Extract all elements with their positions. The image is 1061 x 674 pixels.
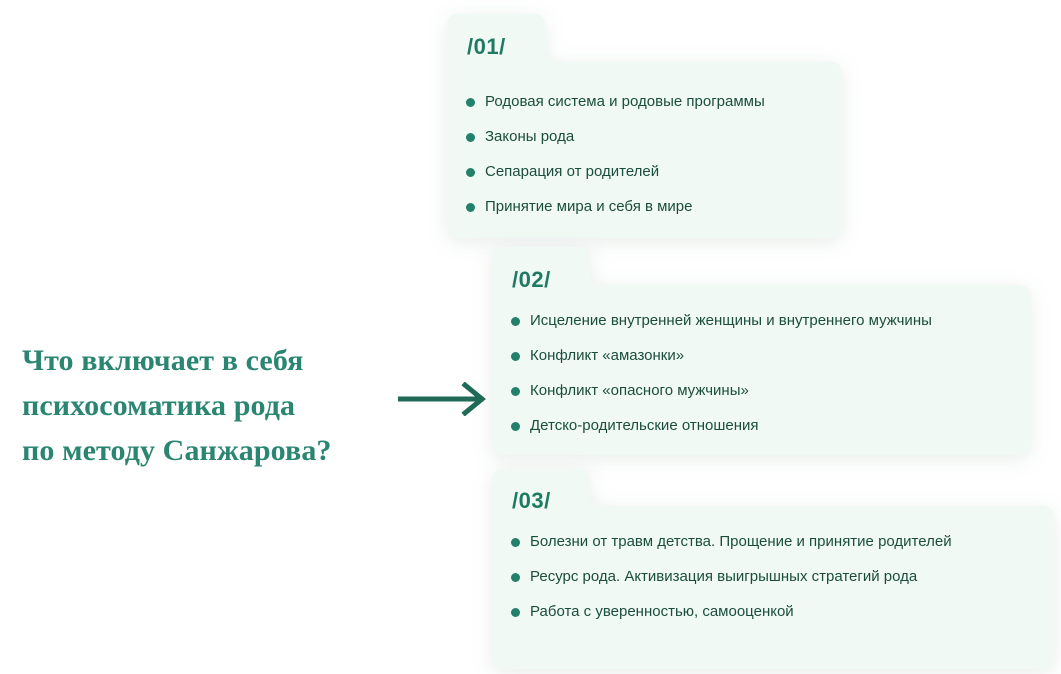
list-item: Законы рода — [466, 127, 765, 147]
info-card-01: /01/ Родовая система и родовые программы… — [447, 14, 842, 238]
card-item-list: Родовая система и родовые программы Зако… — [466, 92, 765, 217]
list-item-label: Принятие мира и себя в мире — [485, 198, 693, 215]
info-card-03: /03/ Болезни от травм детства. Прощение … — [492, 469, 1054, 669]
list-item: Детско-родительские отношения — [511, 416, 932, 436]
list-item: Исцеление внутренней женщины и внутренне… — [511, 311, 932, 331]
bullet-icon — [511, 317, 520, 326]
bullet-icon — [511, 608, 520, 617]
list-item-label: Конфликт «амазонки» — [530, 347, 684, 364]
list-item-label: Конфликт «опасного мужчины» — [530, 382, 749, 399]
card-number-label: /01/ — [467, 34, 506, 60]
list-item: Родовая система и родовые программы — [466, 92, 765, 112]
card-item-list: Исцеление внутренней женщины и внутренне… — [511, 311, 932, 436]
bullet-icon — [466, 203, 475, 212]
card-item-list: Болезни от травм детства. Прощение и при… — [511, 532, 952, 622]
bullet-icon — [511, 422, 520, 431]
arrow-right-icon — [398, 382, 490, 416]
list-item-label: Болезни от травм детства. Прощение и при… — [530, 533, 952, 550]
list-item-label: Работа с уверенностью, самооценкой — [530, 603, 794, 620]
list-item-label: Родовая система и родовые программы — [485, 93, 765, 110]
list-item: Болезни от травм детства. Прощение и при… — [511, 532, 952, 552]
list-item: Сепарация от родителей — [466, 162, 765, 182]
page-title: Что включает в себя психосоматика рода п… — [22, 338, 392, 473]
page-title-line-3: по методу Санжарова? — [22, 428, 392, 473]
bullet-icon — [511, 387, 520, 396]
card-number-label: /02/ — [512, 267, 551, 293]
bullet-icon — [511, 538, 520, 547]
list-item-label: Исцеление внутренней женщины и внутренне… — [530, 312, 932, 329]
card-number-label: /03/ — [512, 488, 551, 514]
list-item-label: Сепарация от родителей — [485, 163, 659, 180]
bullet-icon — [466, 98, 475, 107]
page-title-line-1: Что включает в себя — [22, 338, 392, 383]
list-item: Ресурс рода. Активизация выигрышных стра… — [511, 567, 952, 587]
list-item-label: Детско-родительские отношения — [530, 417, 759, 434]
bullet-icon — [511, 573, 520, 582]
bullet-icon — [511, 352, 520, 361]
info-card-02: /02/ Исцеление внутренней женщины и внут… — [492, 247, 1030, 455]
bullet-icon — [466, 133, 475, 142]
list-item: Конфликт «амазонки» — [511, 346, 932, 366]
bullet-icon — [466, 168, 475, 177]
page-title-line-2: психосоматика рода — [22, 383, 392, 428]
list-item: Принятие мира и себя в мире — [466, 197, 765, 217]
list-item: Работа с уверенностью, самооценкой — [511, 602, 952, 622]
list-item: Конфликт «опасного мужчины» — [511, 381, 932, 401]
list-item-label: Законы рода — [485, 128, 574, 145]
list-item-label: Ресурс рода. Активизация выигрышных стра… — [530, 568, 917, 585]
